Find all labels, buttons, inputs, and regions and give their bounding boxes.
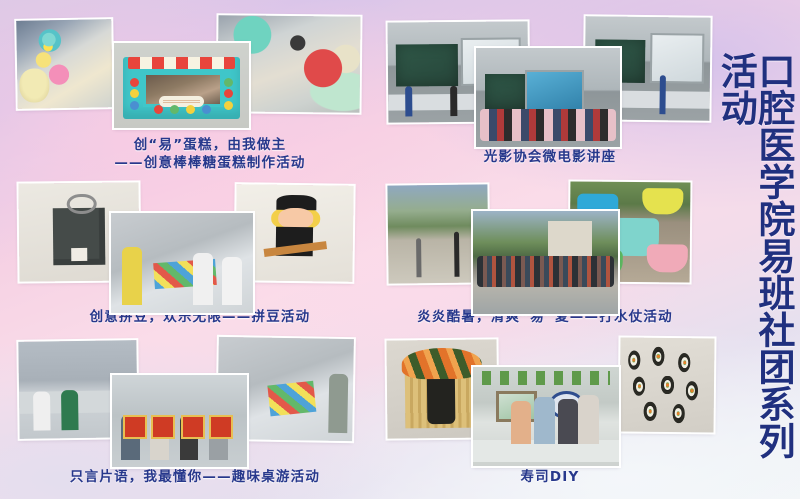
robot-figure: [52, 208, 105, 265]
photo-lecture-group-photo: [476, 48, 620, 147]
student-figure: [534, 397, 554, 445]
projector-screen: [650, 33, 705, 83]
bucket-yellow: [642, 188, 683, 214]
sushi-roll: [686, 381, 698, 400]
standing-student: [454, 232, 460, 277]
sushi-roll: [633, 377, 645, 396]
sushi-roll: [644, 402, 656, 421]
board-game-board: [268, 381, 317, 416]
certificate: [209, 415, 233, 439]
bucket-pink: [646, 244, 687, 272]
photo-sushi-rolls: [620, 338, 715, 433]
sushi-roll: [678, 353, 690, 372]
caption-sushi-line1: 寿司DIY: [450, 468, 650, 486]
gift-box-dots: [123, 57, 239, 120]
student-figure: [33, 392, 50, 431]
presenter-figure: [659, 75, 666, 114]
group-row: [480, 109, 615, 141]
photo-boardgame-winners: [112, 375, 247, 467]
caption-boardgame-line1: 只言片语，我最懂你——趣味桌游活动: [30, 468, 360, 486]
caption-sushi: 寿司DIY: [450, 468, 650, 486]
photo-perler-workshop: [111, 213, 253, 313]
caption-film: 光影协会微电影讲座: [400, 148, 700, 166]
sushi-leaves: [402, 347, 482, 379]
caption-cake-line1: 创“易”蛋糕，由我做主: [60, 136, 360, 154]
caption-cake: 创“易”蛋糕，由我做主 ——创意棒棒糖蛋糕制作活动: [60, 136, 360, 172]
poster-vertical-title: 口腔医学院易班社团系列活动: [730, 52, 792, 472]
sushi-roll: [661, 376, 673, 395]
student-figure: [578, 395, 598, 445]
student-figure: [122, 247, 142, 305]
running-student: [416, 238, 421, 277]
player-figure: [328, 373, 348, 432]
photo-water-fight-group: [473, 211, 618, 314]
certificate: [181, 415, 205, 439]
sushi-roll: [628, 351, 640, 370]
blackboard: [396, 44, 458, 87]
caption-boardgame: 只言片语，我最懂你——趣味桌游活动: [30, 468, 360, 486]
photo-lollipop-cakes: [16, 19, 113, 109]
certificate: [151, 415, 175, 439]
sushi-roll: [672, 404, 684, 423]
student-figure: [193, 253, 213, 305]
decor-vine: [482, 371, 610, 385]
student-figure: [222, 257, 242, 305]
caption-film-line1: 光影协会微电影讲座: [400, 148, 700, 166]
photo-cake-gift-box: [114, 43, 249, 128]
photo-perler-witch-figure: [235, 184, 353, 282]
sushi-roll: [652, 347, 664, 366]
blackboard: [485, 74, 528, 110]
student-figure: [511, 401, 531, 445]
caption-cake-line2: ——创意棒棒糖蛋糕制作活动: [60, 154, 360, 172]
poster-canvas: 创“易”蛋糕，由我做主 ——创意棒棒糖蛋糕制作活动 光影协会微电影讲座: [0, 0, 800, 499]
gift-box-body: [123, 57, 239, 120]
student-figure: [558, 399, 578, 445]
student-figure: [61, 390, 78, 431]
group-row: [477, 256, 613, 287]
audience-figure: [450, 86, 457, 116]
presenter-figure: [405, 86, 412, 116]
photo-sushi-making: [473, 367, 619, 466]
certificate: [123, 415, 147, 439]
